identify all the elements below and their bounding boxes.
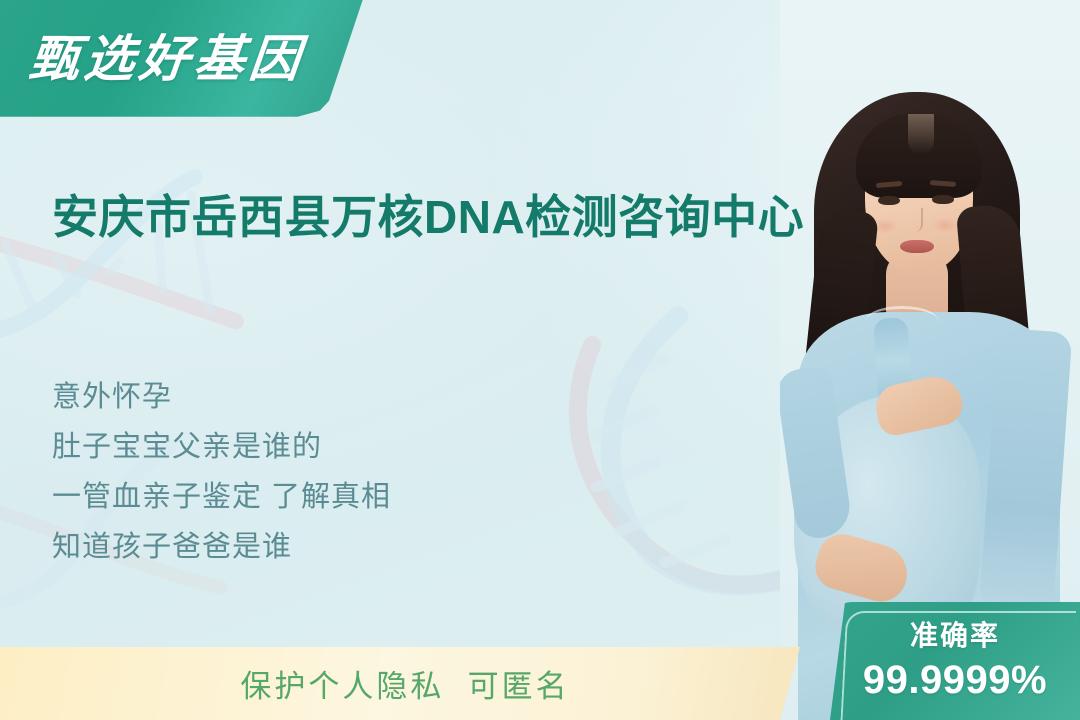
privacy-banner: 保护个人隐私 可匿名	[0, 647, 800, 720]
accuracy-badge: 准确率 99.9999%	[830, 602, 1080, 720]
nose	[910, 208, 923, 232]
copy-line-3: 一管血亲子鉴定 了解真相	[52, 472, 612, 522]
marketing-copy: 意外怀孕 肚子宝宝父亲是谁的 一管血亲子鉴定 了解真相 知道孩子爸爸是谁	[52, 372, 612, 572]
copy-line-4: 知道孩子爸爸是谁	[52, 522, 612, 572]
copy-line-2: 肚子宝宝父亲是谁的	[52, 422, 612, 472]
brand-logo-text: 甄选好基因	[26, 19, 309, 91]
copy-line-1: 意外怀孕	[52, 372, 612, 422]
promo-banner: 甄选好基因 安庆市岳西县万核DNA检测咨询中心 意外怀孕 肚子宝宝父亲是谁的 一…	[0, 0, 1080, 720]
eye-right	[932, 195, 954, 204]
mouth	[900, 240, 934, 253]
hair-part	[908, 114, 934, 154]
eye-left	[878, 196, 900, 205]
page-title: 安庆市岳西县万核DNA检测咨询中心	[52, 189, 822, 247]
blush-right	[932, 217, 958, 233]
accuracy-label: 准确率	[830, 614, 1080, 654]
brand-logo-badge: 甄选好基因	[0, 0, 364, 118]
privacy-banner-text: 保护个人隐私 可匿名	[240, 661, 569, 706]
accuracy-value: 99.9999%	[830, 658, 1080, 703]
